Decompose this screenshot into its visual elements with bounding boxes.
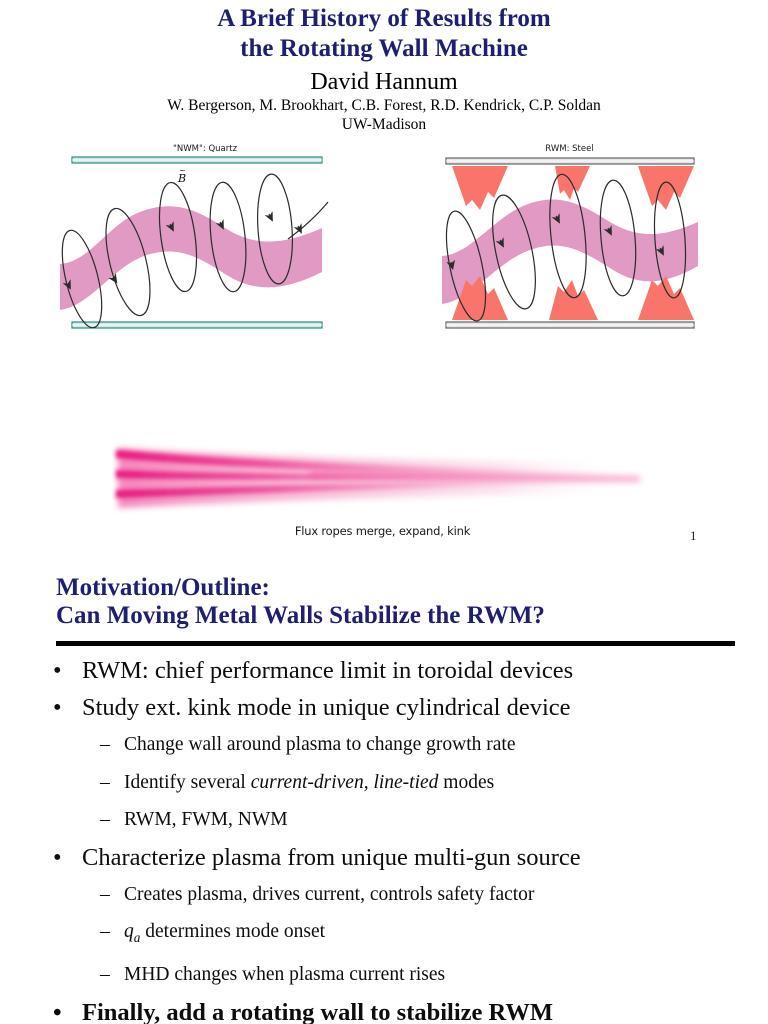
- slide-motivation-outline: Motivation/Outline: Can Moving Metal Wal…: [0, 570, 768, 1024]
- bullet-marker-dash: –: [100, 801, 110, 839]
- bullet-item-level2: –qa determines mode onset: [44, 913, 754, 956]
- bullet-item-level2: –MHD changes when plasma current rises: [44, 956, 754, 994]
- diagram-nwm-quartz: "NWM": Quartz: [60, 144, 350, 344]
- bullet-item-level2: –Change wall around plasma to change gro…: [44, 726, 754, 764]
- section-title-line2: Can Moving Metal Walls Stabilize the RWM…: [56, 602, 545, 630]
- presentation-title-line2: the Rotating Wall Machine: [0, 34, 768, 64]
- presentation-title: A Brief History of Results from the Rota…: [0, 4, 768, 64]
- bullet-text: RWM, FWM, NWM: [124, 809, 288, 830]
- bullet-item-level1: •Characterize plasma from unique multi-g…: [44, 839, 754, 876]
- bullet-item-level2: –Identify several current-driven, line-t…: [44, 764, 754, 802]
- bullet-text: Study ext. kink mode in unique cylindric…: [82, 694, 571, 721]
- coauthor-list: W. Bergerson, M. Brookhart, C.B. Forest,…: [0, 96, 768, 115]
- bullet-text: Characterize plasma from unique multi-gu…: [82, 844, 581, 871]
- bullet-list: •RWM: chief performance limit in toroida…: [44, 652, 754, 1024]
- steel-wall-bottom: [446, 322, 694, 328]
- bullet-item-level1: •RWM: chief performance limit in toroida…: [44, 652, 754, 689]
- bullet-item-level1: •Finally, add a rotating wall to stabili…: [44, 994, 754, 1024]
- title-block: A Brief History of Results from the Rota…: [0, 0, 768, 134]
- bullet-marker-dash: –: [100, 956, 110, 994]
- section-title-line1: Motivation/Outline:: [56, 574, 545, 602]
- math-symbol-qa: qa: [124, 921, 140, 942]
- diagram-rwm-steel: RWM: Steel: [432, 144, 707, 344]
- title-divider: [56, 641, 735, 646]
- bullet-item-level2: –Creates plasma, drives current, control…: [44, 876, 754, 914]
- slide-title-page: A Brief History of Results from the Rota…: [0, 0, 768, 570]
- bullet-text: Creates plasma, drives current, controls…: [124, 884, 534, 905]
- bullet-text: Identify several current-driven, line-ti…: [124, 772, 494, 793]
- emphasis-text: current-driven, line-tied: [251, 772, 439, 793]
- bullet-item-level1: •Study ext. kink mode in unique cylindri…: [44, 689, 754, 726]
- bullet-marker-dot: •: [53, 689, 62, 726]
- vector-accent-icon: ~: [179, 166, 186, 175]
- bullet-marker-dash: –: [100, 913, 110, 951]
- page-number: 1: [690, 528, 697, 544]
- affiliation: UW-Madison: [0, 115, 768, 134]
- bullet-text: Change wall around plasma to change grow…: [124, 734, 516, 755]
- bullet-text: qa determines mode onset: [124, 921, 325, 942]
- bullet-text: RWM: chief performance limit in toroidal…: [82, 657, 573, 684]
- bullet-marker-dot: •: [53, 994, 62, 1024]
- plasma-column-nwm: [60, 206, 322, 310]
- bullet-marker-dot: •: [53, 652, 62, 689]
- nwm-diagram-svg: [60, 144, 350, 344]
- quartz-wall-bottom: [72, 322, 322, 328]
- presentation-title-line1: A Brief History of Results from: [0, 4, 768, 34]
- bullet-item-level2: –RWM, FWM, NWM: [44, 801, 754, 839]
- bullet-marker-dash: –: [100, 876, 110, 914]
- section-title: Motivation/Outline: Can Moving Metal Wal…: [56, 574, 545, 630]
- bullet-marker-dash: –: [100, 764, 110, 802]
- flux-rope-image: Flux ropes merge, expand, kink: [110, 430, 655, 520]
- magnetic-field-label: ~B: [178, 172, 186, 185]
- flux-rope-caption: Flux ropes merge, expand, kink: [110, 524, 655, 538]
- flux-rope-svg: [110, 430, 655, 520]
- rwm-diagram-svg: [432, 144, 707, 344]
- bullet-text: Finally, add a rotating wall to stabiliz…: [82, 999, 553, 1024]
- bullet-marker-dash: –: [100, 726, 110, 764]
- quartz-wall-top: [72, 157, 322, 163]
- author-name: David Hannum: [0, 68, 768, 96]
- bullet-text: MHD changes when plasma current rises: [124, 964, 445, 985]
- steel-wall-top: [446, 158, 694, 164]
- bullet-marker-dot: •: [53, 839, 62, 876]
